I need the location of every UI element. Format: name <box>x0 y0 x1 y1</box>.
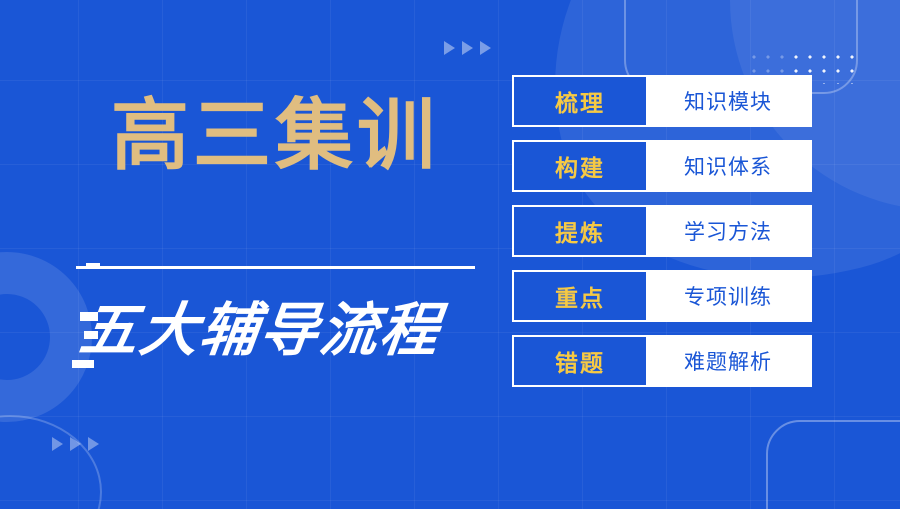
process-row-value: 知识体系 <box>646 142 810 190</box>
rounded-rect-outline-bottom-right <box>766 420 900 509</box>
process-row-key: 重点 <box>514 272 646 320</box>
title-divider <box>76 266 475 269</box>
process-row[interactable]: 重点 专项训练 <box>512 270 812 322</box>
page-title: 高三集训 <box>111 96 439 174</box>
process-row-key: 错题 <box>514 337 646 385</box>
process-row[interactable]: 提炼 学习方法 <box>512 205 812 257</box>
process-row[interactable]: 梳理 知识模块 <box>512 75 812 127</box>
process-list: 梳理 知识模块 构建 知识体系 提炼 学习方法 重点 专项训练 错题 难题解析 <box>512 75 812 387</box>
process-row-value: 难题解析 <box>646 337 810 385</box>
process-row-key: 提炼 <box>514 207 646 255</box>
process-row-value: 专项训练 <box>646 272 810 320</box>
process-row-key: 梳理 <box>514 77 646 125</box>
process-row-value: 知识模块 <box>646 77 810 125</box>
page-subtitle: 五大辅导流程 <box>76 302 443 360</box>
process-row-key: 构建 <box>514 142 646 190</box>
headline-block: 高三集训 五大辅导流程 <box>0 0 500 509</box>
promo-banner: 高三集训 五大辅导流程 梳理 知识模块 构建 知识体系 提炼 学习方法 重点 专… <box>0 0 900 509</box>
process-row[interactable]: 构建 知识体系 <box>512 140 812 192</box>
process-row-value: 学习方法 <box>646 207 810 255</box>
process-row[interactable]: 错题 难题解析 <box>512 335 812 387</box>
